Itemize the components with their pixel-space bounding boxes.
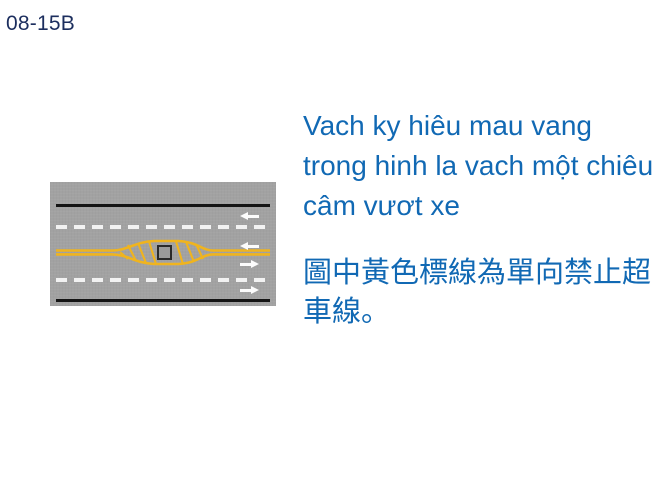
- arrow-shaft: [240, 263, 252, 266]
- slide-canvas: 08-15B: [0, 0, 672, 504]
- arrow-head-icon: [251, 286, 259, 294]
- lane-dash-bottom: [56, 278, 270, 282]
- slide-code-label: 08-15B: [6, 12, 75, 36]
- direction-arrow-left-inner: [240, 242, 259, 251]
- direction-arrow-left-outer: [240, 212, 259, 221]
- arrow-head-icon: [251, 260, 259, 268]
- arrow-shaft: [240, 289, 252, 292]
- central-obstacle: [157, 245, 172, 260]
- direction-arrow-right-inner: [240, 260, 259, 269]
- vietnamese-explanation: Vach ky hiêu mau vang trong hinh la vach…: [303, 106, 655, 225]
- chinese-explanation: 圖中黃色標線為單向禁止超車線。: [303, 253, 655, 330]
- direction-arrow-right-outer: [240, 286, 259, 295]
- edge-line-bottom: [56, 299, 270, 302]
- arrow-shaft: [247, 245, 259, 248]
- explanation-text-block: Vach ky hiêu mau vang trong hinh la vach…: [303, 106, 655, 330]
- arrow-shaft: [247, 215, 259, 218]
- road-marking-diagram: [50, 182, 276, 306]
